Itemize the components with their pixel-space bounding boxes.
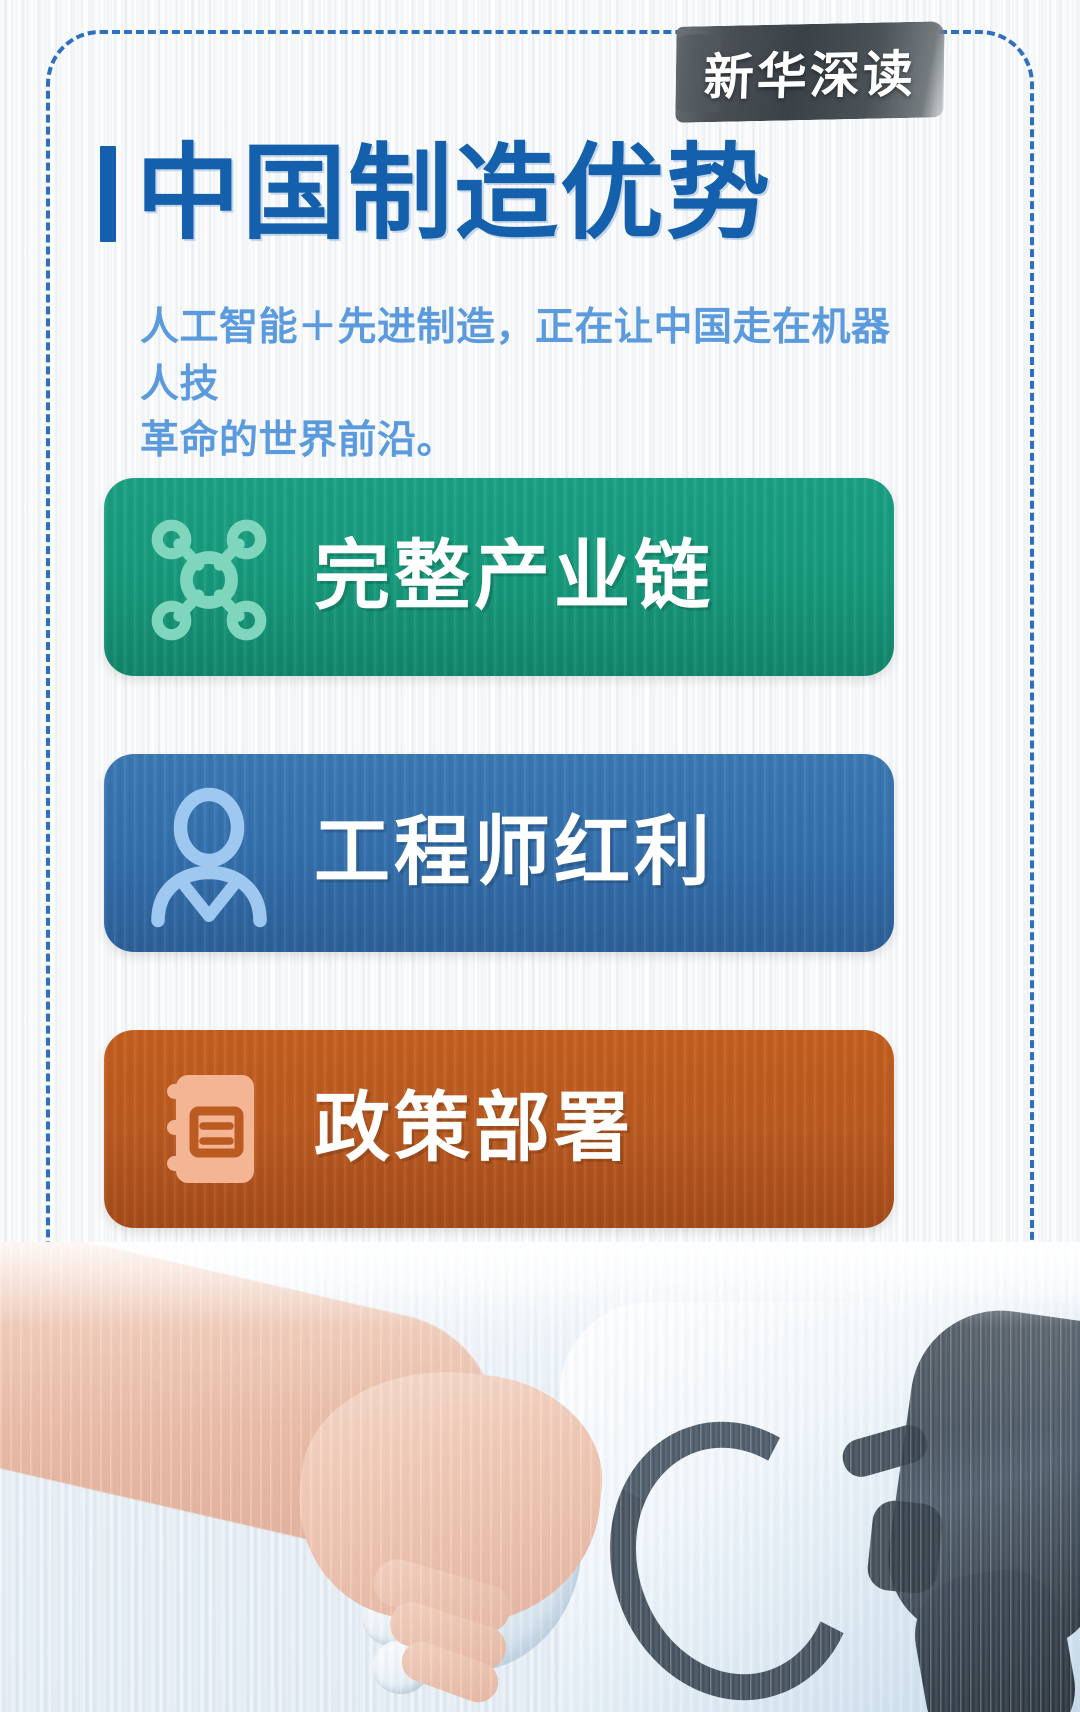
subtitle-line-1: 人工智能＋先进制造，正在让中国走在机器人技 <box>140 300 900 413</box>
advantage-card-supply-chain[interactable]: 完整产业链 <box>104 478 894 676</box>
engineer-person-icon <box>104 754 314 952</box>
section-badge: 新华深读 <box>676 24 944 120</box>
advantage-card-engineer-dividend[interactable]: 工程师红利 <box>104 754 894 952</box>
subtitle-line-2: 革命的世界前沿。 <box>140 413 900 470</box>
photo-top-fade <box>0 1242 1080 1712</box>
section-badge-label: 新华深读 <box>674 22 946 123</box>
poster-root: 新华深读 中国制造优势 人工智能＋先进制造，正在让中国走在机器人技 革命的世界前… <box>0 0 1080 1712</box>
policy-notebook-icon <box>104 1030 314 1228</box>
advantage-card-policy[interactable]: 政策部署 <box>104 1030 894 1228</box>
page-title: 中国制造优势 <box>100 142 772 246</box>
network-nodes-icon <box>104 478 314 676</box>
page-title-text: 中国制造优势 <box>136 142 772 246</box>
advantage-card-label: 政策部署 <box>314 1091 634 1167</box>
advantage-card-label: 工程师红利 <box>314 815 714 891</box>
advantage-card-label: 完整产业链 <box>314 539 714 615</box>
human-robot-handshake-photo <box>0 1242 1080 1712</box>
page-subtitle: 人工智能＋先进制造，正在让中国走在机器人技 革命的世界前沿。 <box>140 300 900 470</box>
title-accent-bar <box>100 146 116 242</box>
